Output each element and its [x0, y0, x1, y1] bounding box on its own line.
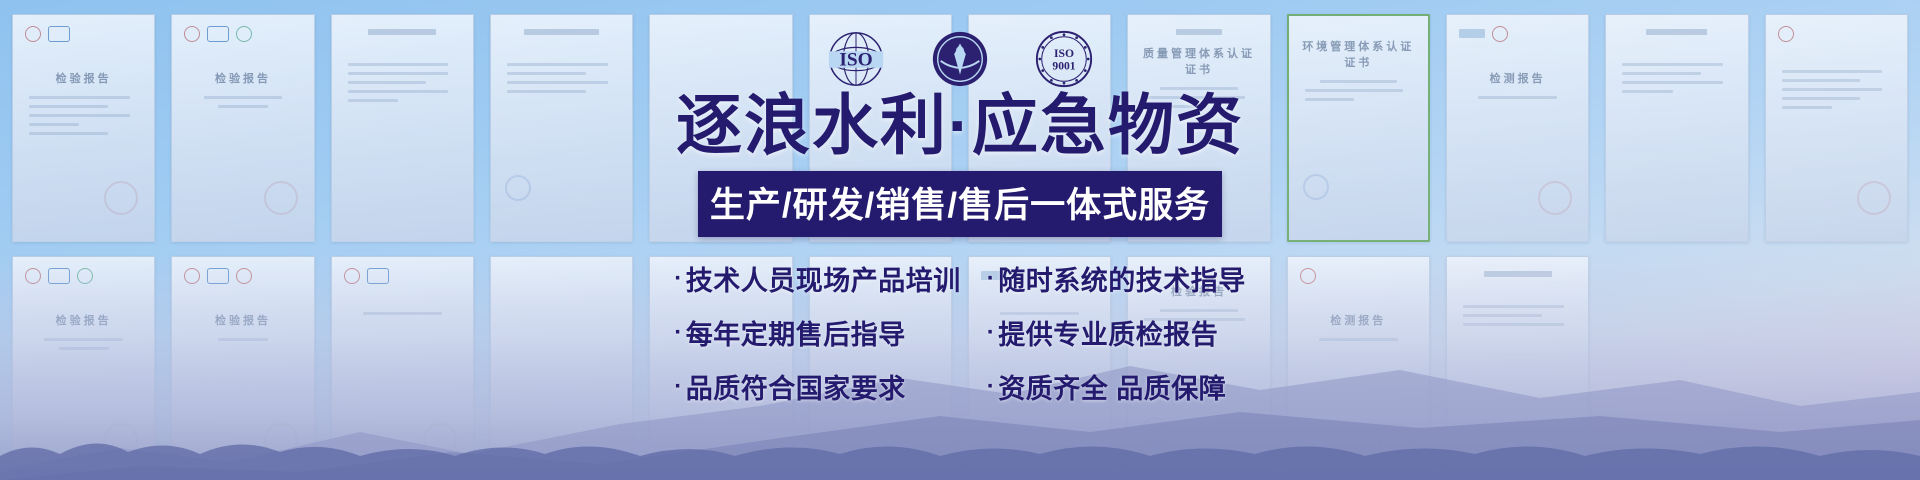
- cert-logo-icon: [184, 26, 200, 42]
- blue-stamp-icon: [505, 175, 531, 201]
- list-item: · 每年定期售后指导: [674, 313, 906, 352]
- cert-logo-icon: [48, 26, 70, 42]
- cert-logo-icon: [25, 26, 41, 42]
- bullet-dot-icon: ·: [674, 375, 683, 399]
- cert-logo-icon: [1300, 268, 1316, 284]
- red-seal-icon: [1538, 181, 1572, 215]
- list-item-label: 技术人员现场产品培训: [686, 259, 961, 298]
- svg-text:9001: 9001: [1052, 60, 1075, 73]
- treeline-silhouette: [0, 422, 1920, 480]
- quality-seal-badge: [929, 28, 991, 90]
- list-item-label: 品质符合国家要求: [686, 367, 906, 406]
- list-item: · 品质符合国家要求: [674, 367, 906, 406]
- red-seal-icon: [264, 181, 298, 215]
- list-item-label: 资质齐全 品质保障: [998, 367, 1226, 406]
- list-item: · 提供专业质检报告: [987, 313, 1219, 352]
- certificate-thumbnail: [1605, 14, 1748, 242]
- svg-text:ISO: ISO: [1054, 47, 1074, 60]
- feature-bullet-list: · 技术人员现场产品培训 · 随时系统的技术指导 · 每年定期售后指导 · 提供…: [650, 259, 1270, 406]
- cert-logo-icon: [1778, 26, 1794, 42]
- certificate-title: 检验报告: [184, 70, 301, 86]
- list-item-label: 随时系统的技术指导: [998, 259, 1246, 298]
- cert-logo-icon: [25, 268, 41, 284]
- banner-content: 逐浪水利·应急物资 生产/研发/销售/售后一体式服务 · 技术人员现场产品培训 …: [650, 92, 1270, 406]
- certification-badges: ISO ISO 9001: [825, 28, 1095, 90]
- iso-globe-badge: ISO: [825, 28, 887, 90]
- cert-logo-icon: [236, 26, 252, 42]
- list-item: · 技术人员现场产品培训: [674, 259, 961, 298]
- certificate-thumbnail: 检验报告: [171, 14, 314, 242]
- certificate-thumbnail: 检验报告: [12, 14, 155, 242]
- cert-logo-icon: [367, 268, 389, 284]
- certificate-title: 检测报告: [1459, 70, 1576, 86]
- red-seal-icon: [1857, 181, 1891, 215]
- certificate-title: 检验报告: [25, 70, 142, 86]
- cert-logo-icon: [207, 26, 229, 42]
- cert-logo-icon: [1459, 29, 1485, 38]
- bullet-dot-icon: ·: [987, 375, 996, 399]
- iso-9001-badge: ISO 9001: [1033, 28, 1095, 90]
- cert-logo-icon: [1492, 26, 1508, 42]
- bullet-dot-icon: ·: [674, 321, 683, 345]
- page-title: 逐浪水利·应急物资: [650, 92, 1270, 159]
- list-item-label: 每年定期售后指导: [686, 313, 906, 352]
- cert-logo-icon: [207, 268, 229, 284]
- blue-stamp-icon: [1303, 174, 1329, 200]
- bullet-dot-icon: ·: [987, 267, 996, 291]
- badge-label: ISO: [839, 49, 872, 70]
- cert-logo-icon: [344, 268, 360, 284]
- certificate-thumbnail: [490, 14, 633, 242]
- cert-logo-icon: [236, 268, 252, 284]
- list-item: · 随时系统的技术指导: [987, 259, 1246, 298]
- cert-logo-icon: [184, 268, 200, 284]
- red-seal-icon: [104, 181, 138, 215]
- promo-banner: 检验报告 检验报告 质量管理体系认证证书: [0, 0, 1920, 480]
- certificate-title: 环境管理体系认证证书: [1301, 38, 1416, 70]
- cert-logo-icon: [48, 268, 70, 284]
- bullet-dot-icon: ·: [987, 321, 996, 345]
- list-item-label: 提供专业质检报告: [998, 313, 1218, 352]
- certificate-thumbnail: [1765, 14, 1908, 242]
- bullet-dot-icon: ·: [674, 267, 683, 291]
- cert-logo-icon: [77, 268, 93, 284]
- certificate-title: 质量管理体系认证证书: [1140, 45, 1257, 77]
- certificate-thumbnail: [331, 14, 474, 242]
- service-subtitle-band: 生产/研发/销售/售后一体式服务: [698, 171, 1222, 237]
- certificate-thumbnail: 检测报告: [1446, 14, 1589, 242]
- certificate-thumbnail: 环境管理体系认证证书: [1287, 14, 1430, 242]
- list-item: · 资质齐全 品质保障: [987, 367, 1227, 406]
